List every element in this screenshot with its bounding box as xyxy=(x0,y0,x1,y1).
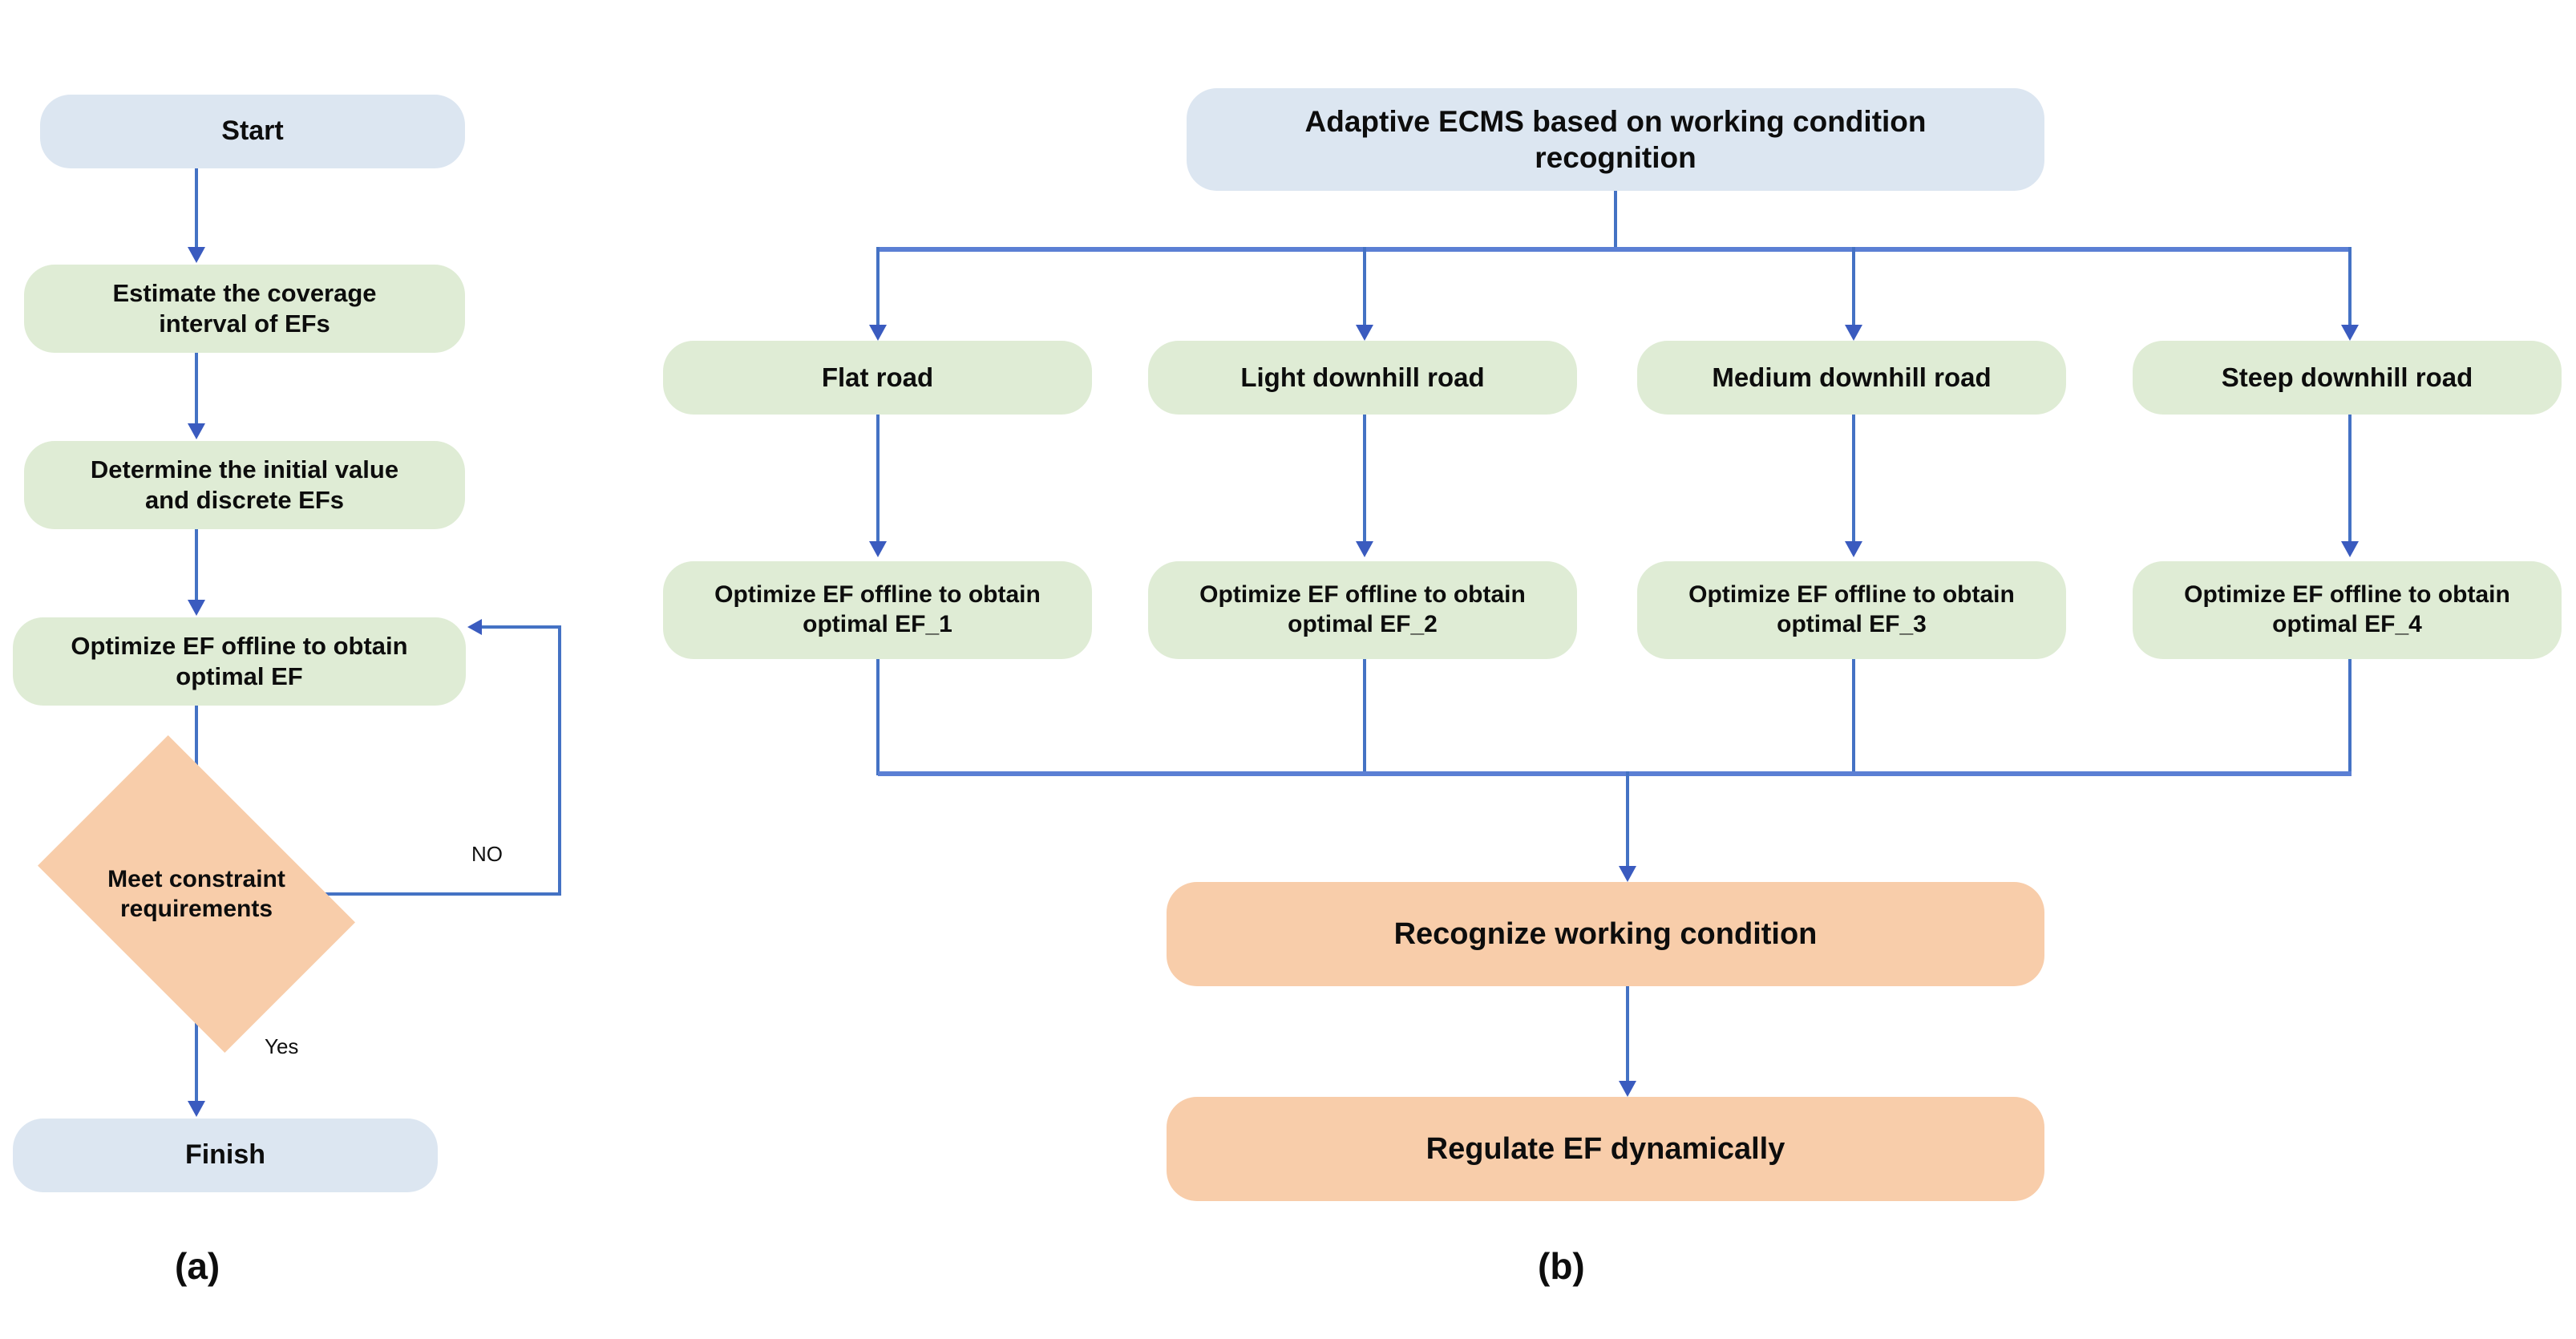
node-finish[interactable]: Finish xyxy=(13,1119,438,1192)
arrow-merge-to-recognize xyxy=(1619,866,1636,882)
arrow-road-1-to-ef-1 xyxy=(869,541,887,557)
bus-merge xyxy=(878,771,2352,776)
connector-bus-to-road-1 xyxy=(876,247,880,331)
connector-road-2-to-ef-2 xyxy=(1363,415,1366,547)
node-estimate-coverage-interval[interactable]: Estimate the coverage interval of EFs xyxy=(24,265,465,353)
bus-top-distribution xyxy=(878,247,2352,252)
connector-merge-to-recognize xyxy=(1626,771,1629,872)
connector-start-to-estimate xyxy=(195,168,198,253)
decision-label: Meet constraint requirements xyxy=(76,864,317,924)
connector-road-1-to-ef-1 xyxy=(876,415,880,547)
connector-no-horizontal-bottom xyxy=(324,892,561,896)
connector-ef-2-to-merge xyxy=(1363,659,1366,775)
node-optimize-ef-3[interactable]: Optimize EF offline to obtain optimal EF… xyxy=(1637,561,2066,659)
node-determine-initial-value[interactable]: Determine the initial value and discrete… xyxy=(24,441,465,529)
node-recognize-working-condition[interactable]: Recognize working condition xyxy=(1167,882,2044,986)
node-adaptive-ecms-header[interactable]: Adaptive ECMS based on working condition… xyxy=(1187,88,2044,191)
connector-bus-to-road-3 xyxy=(1852,247,1855,331)
arrow-determine-to-optimize xyxy=(188,600,205,616)
node-decision-meet-constraint[interactable]: Meet constraint requirements xyxy=(64,802,329,986)
node-road-flat[interactable]: Flat road xyxy=(663,341,1092,415)
connector-ef-3-to-merge xyxy=(1852,659,1855,775)
connector-road-4-to-ef-4 xyxy=(2348,415,2352,547)
node-road-steep-downhill[interactable]: Steep downhill road xyxy=(2133,341,2562,415)
panel-label-b: (b) xyxy=(1538,1244,1585,1288)
arrow-bus-to-road-1 xyxy=(869,325,887,341)
connector-recognize-to-regulate xyxy=(1626,986,1629,1086)
node-regulate-ef-dynamically[interactable]: Regulate EF dynamically xyxy=(1167,1097,2044,1201)
node-road-medium-downhill[interactable]: Medium downhill road xyxy=(1637,341,2066,415)
connector-bus-to-road-4 xyxy=(2348,247,2352,331)
arrow-bus-to-road-4 xyxy=(2341,325,2359,341)
arrow-road-3-to-ef-3 xyxy=(1845,541,1862,557)
connector-no-horizontal-top xyxy=(481,625,561,629)
arrow-yes-to-finish xyxy=(188,1101,205,1117)
connector-bus-to-road-2 xyxy=(1363,247,1366,331)
node-optimize-ef-1[interactable]: Optimize EF offline to obtain optimal EF… xyxy=(663,561,1092,659)
arrow-estimate-to-determine xyxy=(188,423,205,439)
node-optimize-ef-offline[interactable]: Optimize EF offline to obtain optimal EF xyxy=(13,617,466,706)
connector-estimate-to-determine xyxy=(195,353,198,429)
edge-label-yes: Yes xyxy=(265,1034,298,1059)
connector-no-vertical xyxy=(558,627,561,896)
arrow-road-2-to-ef-2 xyxy=(1356,541,1373,557)
connector-determine-to-optimize xyxy=(195,529,198,605)
figure-canvas: Start Estimate the coverage interval of … xyxy=(0,0,2576,1339)
arrow-bus-to-road-3 xyxy=(1845,325,1862,341)
arrow-recognize-to-regulate xyxy=(1619,1081,1636,1097)
connector-header-to-bus xyxy=(1614,191,1617,251)
edge-label-no: NO xyxy=(471,842,503,867)
connector-ef-1-to-merge xyxy=(876,659,880,775)
node-road-light-downhill[interactable]: Light downhill road xyxy=(1148,341,1577,415)
node-optimize-ef-4[interactable]: Optimize EF offline to obtain optimal EF… xyxy=(2133,561,2562,659)
arrow-bus-to-road-2 xyxy=(1356,325,1373,341)
node-optimize-ef-2[interactable]: Optimize EF offline to obtain optimal EF… xyxy=(1148,561,1577,659)
arrow-start-to-estimate xyxy=(188,247,205,263)
node-start[interactable]: Start xyxy=(40,95,465,168)
panel-label-a: (a) xyxy=(175,1244,220,1288)
arrow-road-4-to-ef-4 xyxy=(2341,541,2359,557)
arrow-no-to-optimize xyxy=(467,619,482,635)
connector-road-3-to-ef-3 xyxy=(1852,415,1855,547)
connector-ef-4-to-merge xyxy=(2348,659,2352,775)
